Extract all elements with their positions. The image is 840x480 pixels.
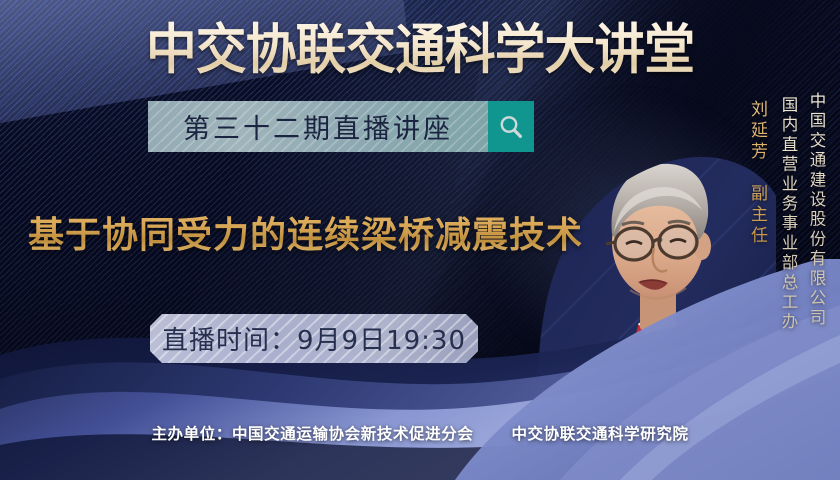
page-title: 中交协联交通科学大讲堂 xyxy=(138,18,702,82)
live-broadcast-poster: 中交协联交通科学大讲堂 第三十二期直播讲座 基于协同受力的连续梁桥减震技术 直播… xyxy=(0,0,840,480)
speaker-name-title: 刘延芳 副主任 xyxy=(745,100,770,247)
broadcast-time-label: 直播时间：9月9日19:30 xyxy=(162,320,466,357)
lecture-topic: 基于协同受力的连续梁桥减震技术 xyxy=(28,206,583,258)
footer-organizers: 主办单位：中国交通运输协会新技术促进分会 中交协联交通科学研究院 xyxy=(0,422,840,444)
episode-label: 第三十二期直播讲座 xyxy=(183,107,453,146)
speaker-company: 中国交通建设股份有限公司 xyxy=(804,92,828,328)
broadcast-time-plate: 直播时间：9月9日19:30 xyxy=(150,314,478,363)
episode-banner: 第三十二期直播讲座 xyxy=(148,101,488,152)
search-icon[interactable] xyxy=(488,101,534,152)
footer-organizer: 主办单位：中国交通运输协会新技术促进分会 xyxy=(151,425,473,443)
speaker-department: 国内直营业务事业部总工办 xyxy=(776,96,800,332)
footer-co-organizer: 中交协联交通科学研究院 xyxy=(511,425,688,443)
